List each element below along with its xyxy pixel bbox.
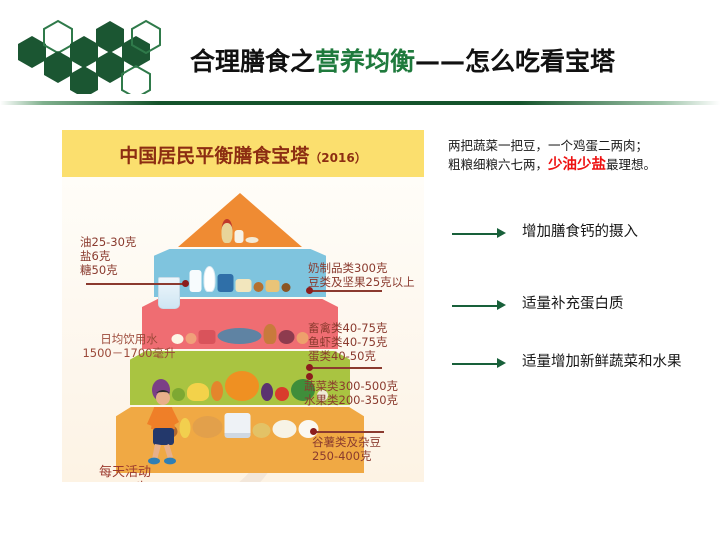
oil-bottle-art <box>222 219 233 243</box>
water-glass-icon <box>158 277 180 309</box>
page-title: 合理膳食之营养均衡——怎么吃看宝塔 <box>190 42 710 78</box>
annotation-row-vegetables: 适量增加新鲜蔬菜和水果 <box>452 352 720 374</box>
poster-label-dairy: 奶制品类300克 豆类及坚果25克以上 <box>308 261 415 289</box>
rhyme-line-2: 粗粮细粮六七两，少油少盐最理想。 <box>448 155 714 175</box>
poster-label-grains: 谷薯类及杂豆 250-400克 <box>312 435 381 463</box>
pyramid-tier-oil-salt-sugar <box>178 193 302 247</box>
connector-line-meat <box>310 367 382 369</box>
carrot-art <box>211 381 223 401</box>
annotation-text-protein: 适量补充蛋白质 <box>522 294 702 315</box>
milk-bottle-art <box>204 266 216 292</box>
poster-title-text: 中国居民平衡膳食宝塔 <box>119 145 309 167</box>
annotation-row-protein: 适量补充蛋白质 <box>452 294 720 316</box>
arrow-right-icon <box>452 224 510 244</box>
potato-art <box>253 423 271 438</box>
nuts-art <box>254 282 264 292</box>
annotation-text-vegetables: 适量增加新鲜蔬菜和水果 <box>522 352 702 373</box>
tomato-art <box>275 387 289 401</box>
poster-body: 一日三餐怎么吃 <box>62 177 424 482</box>
connector-line-oil <box>86 283 186 285</box>
sugar-spoon-art <box>246 237 259 243</box>
banana-art <box>187 383 209 401</box>
connector-dot-oil <box>182 280 189 287</box>
salt-shaker-art <box>235 230 244 243</box>
runner-figure-illustration <box>142 389 186 467</box>
arrow-right-icon <box>452 296 510 316</box>
rhyme-line-2-a: 粗粮细粮六七两， <box>448 157 548 172</box>
title-accent: 营养均衡 <box>315 47 415 76</box>
arrow-right-icon <box>452 354 510 374</box>
tier-art-oil <box>178 193 302 247</box>
poster-label-activity: 每天活动 6000步 <box>70 465 180 482</box>
poster-label-vegetables: 蔬菜类300-500克 水果类200-350克 <box>304 379 398 407</box>
ham-art <box>199 330 216 344</box>
title-prefix: 合理膳食之 <box>190 47 315 76</box>
annotation-row-calcium: 增加膳食钙的摄入 <box>452 222 720 244</box>
chicken-leg-art <box>264 324 277 344</box>
yogurt-cup-art <box>218 274 234 292</box>
header-divider <box>0 101 720 105</box>
bread-art <box>193 416 223 438</box>
connector-line-grain <box>314 431 384 433</box>
meat-slice-art <box>279 330 295 344</box>
eggplant-art <box>261 383 273 401</box>
rhyme-highlight: 少油少盐 <box>548 157 606 173</box>
annotation-text-calcium: 增加膳食钙的摄入 <box>522 222 702 243</box>
prawn-art <box>297 332 309 344</box>
poster-label-meat: 畜禽类40-75克 鱼虾类40-75克 蛋类40-50克 <box>308 321 387 363</box>
hexagon-honeycomb-logo <box>14 14 179 94</box>
food-pyramid-poster: 中国居民平衡膳食宝塔（2016） <box>62 130 424 482</box>
fish-art <box>218 328 262 344</box>
poster-title-year: （2016） <box>309 151 366 165</box>
poster-title: 中国居民平衡膳食宝塔（2016） <box>62 141 424 168</box>
rice-bowl-art <box>225 413 251 438</box>
connector-line-dairy <box>310 290 382 292</box>
bean-art <box>282 283 291 292</box>
noodle-bowl-art <box>273 420 297 438</box>
connector-dot-meat <box>306 364 313 371</box>
cheese-art <box>266 280 280 292</box>
rhyme-line-1: 两把蔬菜一把豆，一个鸡蛋二两肉； <box>448 136 714 155</box>
slide-header: 合理膳食之营养均衡——怎么吃看宝塔 <box>0 0 720 104</box>
milk-carton-art <box>190 270 202 292</box>
pumpkin-art <box>225 371 259 401</box>
dietary-rhyme-note: 两把蔬菜一把豆，一个鸡蛋二两肉； 粗粮细粮六七两，少油少盐最理想。 <box>448 136 714 175</box>
tofu-art <box>236 279 252 292</box>
poster-label-oil-salt-sugar: 油25-30克 盐6克 糖50克 <box>80 235 136 277</box>
connector-dot-grain <box>310 428 317 435</box>
title-suffix: ——怎么吃看宝塔 <box>415 47 615 76</box>
rhyme-line-2-b: 最理想。 <box>606 157 656 172</box>
poster-label-water: 日均饮用水 1500－1700毫升 <box>70 332 188 360</box>
